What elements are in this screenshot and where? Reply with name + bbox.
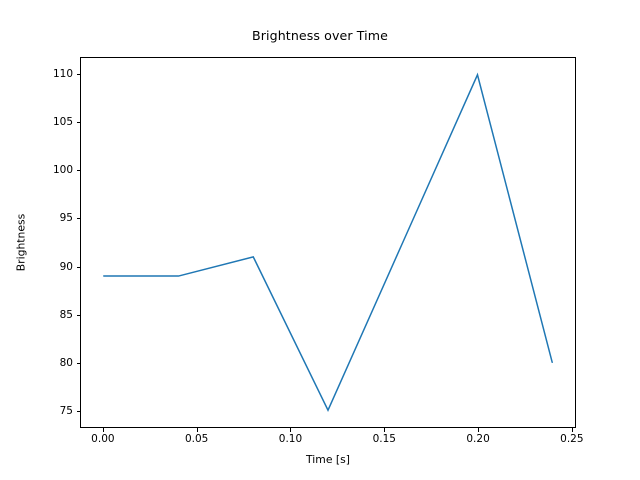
x-tick-label: 0.15	[373, 433, 396, 445]
y-tick-label: 105	[53, 116, 73, 128]
y-tick-label: 80	[60, 357, 73, 369]
x-tick-mark	[572, 428, 573, 432]
y-tick-label: 85	[60, 309, 73, 321]
y-axis-tick-labels: 7580859095100105110	[0, 0, 73, 480]
chart-figure: Brightness over Time Brightness 75808590…	[0, 0, 640, 480]
x-tick-label: 0.20	[466, 433, 489, 445]
y-tick-label: 100	[53, 164, 73, 176]
x-tick-label: 0.00	[91, 433, 114, 445]
y-tick-label: 110	[53, 68, 73, 80]
x-tick-label: 0.25	[560, 433, 583, 445]
y-tick-label: 95	[60, 212, 73, 224]
x-tick-mark	[478, 428, 479, 432]
x-axis-label: Time [s]	[80, 453, 576, 466]
line-series-svg	[81, 58, 575, 427]
x-tick-mark	[197, 428, 198, 432]
plot-area	[80, 57, 576, 428]
x-tick-label: 0.05	[185, 433, 208, 445]
y-tick-label: 90	[60, 261, 73, 273]
x-tick-mark	[384, 428, 385, 432]
line-series-brightness	[104, 75, 552, 410]
y-tick-label: 75	[60, 405, 73, 417]
x-tick-label: 0.10	[279, 433, 302, 445]
x-tick-mark	[290, 428, 291, 432]
x-tick-mark	[103, 428, 104, 432]
chart-title: Brightness over Time	[0, 28, 640, 43]
